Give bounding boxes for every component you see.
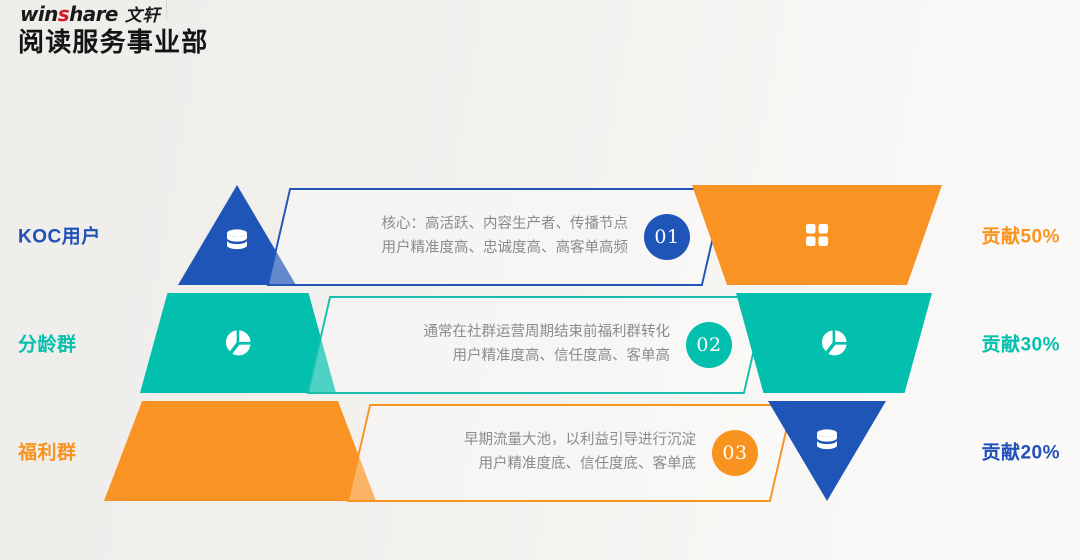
row-3-text-line-1: 早期流量大池，以利益引导进行沉淀 — [464, 429, 696, 453]
row-1-text-line-2: 用户精准度高、忠诚度高、高客单高频 — [382, 237, 629, 261]
row-1-step-badge: 01 — [644, 214, 690, 260]
row-3-text-line-2: 用户精准度底、信任度底、客单底 — [464, 453, 696, 477]
row-1-text-line-1: 核心：高活跃、内容生产者、传播节点 — [382, 213, 629, 237]
row-3-callout: 早期流量大池，以利益引导进行沉淀 用户精准度底、信任度底、客单底 03 — [347, 404, 794, 502]
row-1-right-shape-trapezoid — [692, 185, 942, 285]
row-2-callout-text: 通常在社群运营周期结束前福利群转化 用户精准度高、信任度高、客单高 — [424, 321, 671, 369]
funnel-diagram: KOC用户 核心：高活跃、内容生产者、传播节点 用户精准度高、忠诚度高、高客单高… — [0, 175, 1080, 510]
row-2-right-label: 贡献30% — [981, 330, 1060, 357]
row-1-right-label: 贡献50% — [981, 222, 1060, 249]
row-3-right-label: 贡献20% — [981, 438, 1060, 465]
header-divider — [166, 0, 167, 20]
row-1-left-label: KOC用户 — [18, 222, 101, 249]
brand-word-highlight: s — [58, 2, 69, 26]
row-2-right-shape-trapezoid — [736, 293, 932, 393]
row-2-left-label: 分龄群 — [18, 330, 77, 357]
page-title: 阅读服务事业部 — [18, 28, 208, 58]
row-3-callout-text: 早期流量大池，以利益引导进行沉淀 用户精准度底、信任度底、客单底 — [464, 429, 696, 477]
database-icon — [220, 218, 254, 252]
pie-chart-icon — [221, 326, 255, 360]
database-icon — [810, 424, 844, 458]
brand-chinese-name: 文轩 — [125, 7, 160, 24]
funnel-row-2: 分龄群 通常在社群运营周期结束前福利群转化 用户精准度高、信任度高、客单高 02 — [0, 293, 1080, 393]
row-3-left-shape-trapezoid — [104, 401, 376, 501]
row-3-step-badge: 03 — [712, 430, 758, 476]
pie-chart-icon — [817, 326, 851, 360]
brand-logo: winshare 文轩 — [20, 4, 160, 24]
row-1-callout: 核心：高活跃、内容生产者、传播节点 用户精准度高、忠诚度高、高客单高频 01 — [267, 188, 726, 286]
row-3-right-shape-triangle-down — [768, 401, 886, 501]
brand-wordmark: winshare — [20, 4, 118, 24]
page-header: winshare 文轩 阅读服务事业部 — [0, 0, 1080, 70]
brand-word-part-a: win — [20, 2, 58, 26]
row-1-callout-text: 核心：高活跃、内容生产者、传播节点 用户精准度高、忠诚度高、高客单高频 — [382, 213, 629, 261]
row-3-left-label: 福利群 — [18, 438, 77, 465]
row-2-callout: 通常在社群运营周期结束前福利群转化 用户精准度高、信任度高、客单高 02 — [307, 296, 768, 394]
row-2-text-line-2: 用户精准度高、信任度高、客单高 — [424, 345, 671, 369]
funnel-row-3: 福利群 早期流量大池，以利益引导进行沉淀 用户精准度底、信任度底、客单底 03 … — [0, 401, 1080, 501]
row-2-text-line-1: 通常在社群运营周期结束前福利群转化 — [424, 321, 671, 345]
brand-word-part-b: hare — [69, 2, 118, 26]
grid-icon — [800, 218, 834, 252]
funnel-row-1: KOC用户 核心：高活跃、内容生产者、传播节点 用户精准度高、忠诚度高、高客单高… — [0, 185, 1080, 285]
row-2-left-shape-trapezoid — [140, 293, 336, 393]
row-2-step-badge: 02 — [686, 322, 732, 368]
